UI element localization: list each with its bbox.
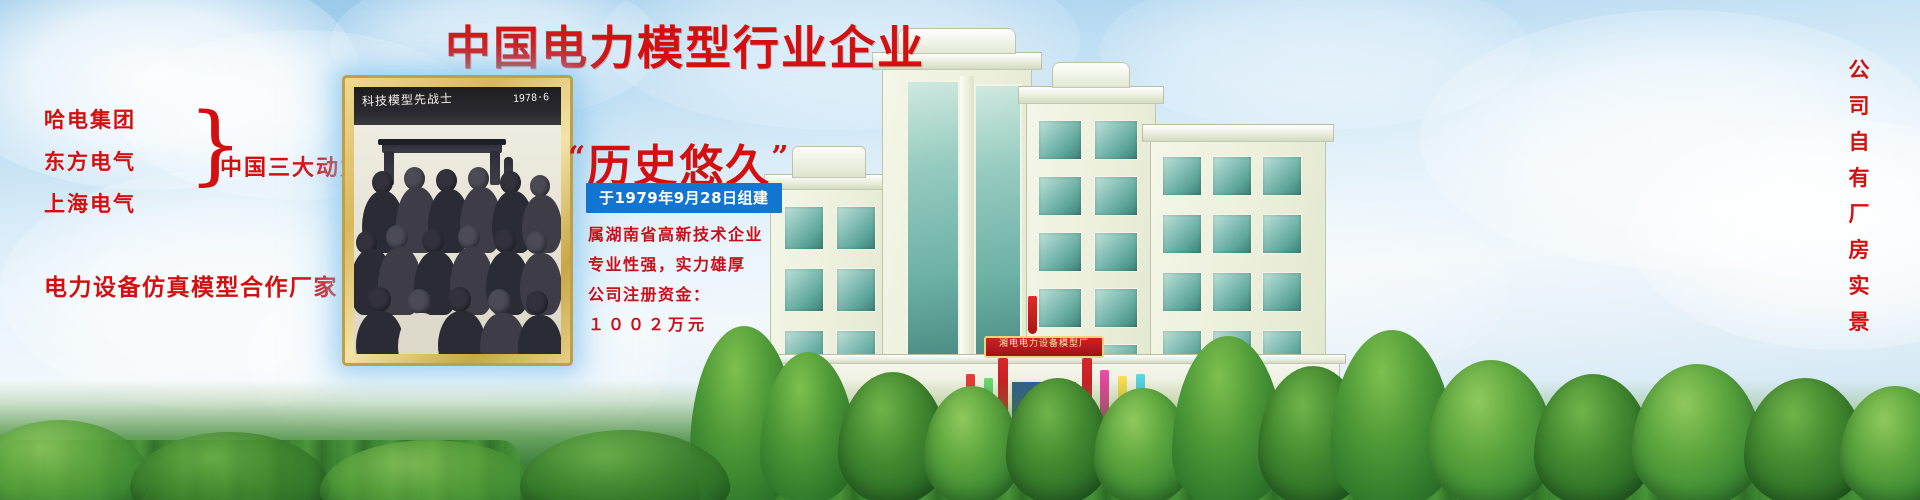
close-quote: ” <box>771 140 790 175</box>
vertical-char-0: 公 <box>1842 52 1876 88</box>
page-title-text: 中国电力模型行业企业 <box>445 12 925 78</box>
detail-line-3: １００２万元 <box>588 310 763 340</box>
photo-group-scene <box>354 125 561 354</box>
vertical-char-1: 司 <box>1842 88 1876 124</box>
vertical-char-3: 有 <box>1842 160 1876 196</box>
page-title: 中国电力模型行业企业 <box>0 12 1920 78</box>
photo-caption: 科技模型先战士 <box>362 89 454 109</box>
left-info-block: 哈电集团 东方电气 上海电气 } 中国三大动力 电力设备仿真模型合作厂家 <box>38 108 378 226</box>
framed-historic-photo: 科技模型先战士 1978·6 <box>345 78 570 363</box>
right-vertical-caption: 公 司 自 有 厂 房 实 景 <box>1842 52 1876 340</box>
vertical-char-4: 厂 <box>1842 196 1876 232</box>
promo-banner: 湘电电力设备模型厂 中国电力模型行业企业 哈电集团 东方电气 <box>0 0 1920 500</box>
center-detail-lines: 属湖南省高新技术企业 专业性强，实力雄厚 公司注册资金： １００２万元 <box>588 220 763 340</box>
detail-line-0: 属湖南省高新技术企业 <box>588 220 763 250</box>
photo-inner: 科技模型先战士 1978·6 <box>354 87 561 354</box>
building-arch-sign: 湘电电力设备模型厂 <box>984 336 1104 358</box>
brand-item-2: 上海电气 <box>44 194 136 215</box>
photo-date: 1978·6 <box>513 92 550 105</box>
vertical-char-5: 房 <box>1842 232 1876 268</box>
vertical-char-7: 景 <box>1842 304 1876 340</box>
brand-item-0: 哈电集团 <box>44 110 136 131</box>
vertical-char-6: 实 <box>1842 268 1876 304</box>
cooperation-line: 电力设备仿真模型合作厂家 <box>44 268 338 302</box>
detail-line-2: 公司注册资金： <box>588 280 763 310</box>
open-quote: “ <box>568 140 587 175</box>
detail-line-1: 专业性强，实力雄厚 <box>588 250 763 280</box>
brand-group-label: 中国三大动力 <box>220 150 364 182</box>
brand-list: 哈电集团 东方电气 上海电气 } 中国三大动力 <box>38 108 358 226</box>
brand-item-1: 东方电气 <box>44 152 136 173</box>
vertical-char-2: 自 <box>1842 124 1876 160</box>
cloud-decoration <box>1630 120 1920 350</box>
founded-date-badge: 于1979年9月28日组建 <box>586 183 782 213</box>
